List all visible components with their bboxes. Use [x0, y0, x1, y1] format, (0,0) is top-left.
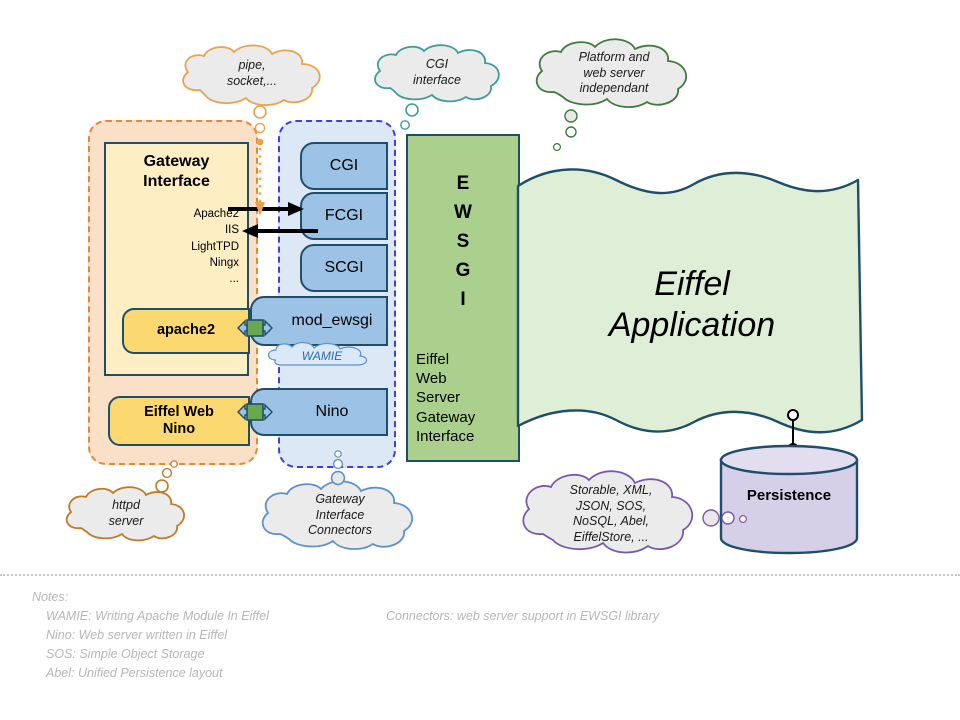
connector-plug-icon-nino	[236, 396, 274, 428]
scgi-box[interactable]: SCGI	[300, 244, 388, 292]
anchor-dot-icon	[326, 448, 350, 490]
note-item-sos: SOS: Simple Object Storage	[46, 645, 928, 664]
cloud-line-4: EiffelStore, ...	[516, 530, 706, 546]
cgi-box[interactable]: CGI	[300, 142, 388, 190]
eiffel-web-nino-label: Eiffel Web Nino	[144, 404, 214, 439]
ewsgi-letter-g: G	[408, 257, 518, 286]
ewsgi-letter-i: I	[408, 286, 518, 315]
dotted-arrow-icon	[246, 100, 274, 222]
gateway-title-line2: Interface	[106, 172, 247, 192]
eiffel-application-label: Eiffel Application	[512, 264, 872, 347]
diagram-canvas: Gateway Interface Apache2 IIS LightTPD N…	[0, 0, 960, 720]
cloud-gateway-interface-connectors: Gateway Interface Connectors	[256, 480, 424, 552]
cloud-line-1: Gateway	[256, 492, 424, 508]
application-line1: Eiffel	[512, 264, 872, 305]
plug-arrows-icon	[236, 396, 274, 428]
cloud-line-2: socket,...	[176, 74, 328, 90]
cloud-line-2: Interface	[256, 508, 424, 524]
persistence-anchor-dots	[702, 508, 754, 528]
anchor-dot-icon	[396, 100, 422, 136]
ewsgi-letter-s: S	[408, 228, 518, 257]
ewsgi-word-server: Server	[416, 388, 475, 407]
cloud-persistence-technologies: Storable, XML, JSON, SOS, NoSQL, Abel, E…	[516, 470, 706, 556]
eiffel-application-flag[interactable]: Eiffel Application	[512, 168, 872, 448]
cloud-line-2: web server	[530, 66, 698, 82]
pipe-socket-connector-arrow	[246, 100, 274, 222]
apache2-box[interactable]: apache2	[122, 308, 250, 354]
ewsgi-word-eiffel: Eiffel	[416, 350, 475, 369]
gateway-title-line1: Gateway	[106, 152, 247, 172]
ewsgi-acronym: E W S G I	[408, 170, 518, 314]
notes-divider	[0, 574, 960, 578]
scgi-label: SCGI	[324, 259, 363, 277]
cloud-pipe-socket: pipe, socket,...	[176, 44, 328, 106]
notes-heading: Notes:	[32, 588, 928, 607]
cloud-platform-independant-text: Platform and web server independant	[530, 50, 698, 97]
cloud-line-1: httpd	[62, 498, 190, 514]
server-item-ningx: Ningx	[191, 255, 239, 271]
gateway-interface-title: Gateway Interface	[106, 152, 247, 191]
cgi-interface-connector-dots	[396, 100, 422, 136]
cloud-line-2: server	[62, 514, 190, 530]
note-item-nino: Nino: Web server written in Eiffel	[46, 626, 928, 645]
apache2-label: apache2	[157, 322, 215, 339]
anchor-dot-icon	[550, 140, 564, 154]
cloud-gateway-connectors-text: Gateway Interface Connectors	[256, 492, 424, 539]
persistence-cylinder[interactable]: Persistence	[718, 443, 860, 555]
ewsgi-panel[interactable]: E W S G I Eiffel Web Server Gateway Inte…	[406, 134, 520, 462]
plug-arrows-icon	[236, 312, 274, 344]
cloud-httpd-server-text: httpd server	[62, 498, 190, 529]
eiffel-web-nino-line1: Eiffel Web	[144, 404, 214, 420]
request-response-arrows	[228, 198, 338, 248]
cloud-platform-independant: Platform and web server independant	[530, 38, 698, 110]
note-item-connectors: Connectors: web server support in EWSGI …	[386, 607, 659, 626]
ewsgi-expansion: Eiffel Web Server Gateway Interface	[416, 350, 475, 446]
cloud-pipe-socket-text: pipe, socket,...	[176, 58, 328, 89]
cloud-cgi-interface-text: CGI interface	[370, 57, 504, 88]
mod-ewsgi-label: mod_ewsgi	[266, 312, 373, 330]
cloud-line-1: CGI	[370, 57, 504, 73]
cloud-line-3: independant	[530, 81, 698, 97]
note-item-abel: Abel: Unified Persistence layout	[46, 664, 928, 683]
cloud-line-1: Storable, XML,	[516, 483, 706, 499]
cloud-line-3: Connectors	[256, 523, 424, 539]
nino-label: Nino	[290, 403, 349, 421]
cloud-line-2: interface	[370, 73, 504, 89]
ewsgi-letter-e: E	[408, 170, 518, 199]
ewsgi-word-gateway: Gateway	[416, 408, 475, 427]
connector-plug-icon-mod-ewsgi	[236, 312, 274, 344]
ewsgi-letter-w: W	[408, 199, 518, 228]
ewsgi-word-web: Web	[416, 369, 475, 388]
wamie-cloud: WAMIE	[262, 340, 382, 370]
ewsgi-anchor-dots	[560, 108, 586, 138]
persistence-label: Persistence	[718, 487, 860, 504]
cloud-line-1: pipe,	[176, 58, 328, 74]
cloud-line-2: JSON, SOS,	[516, 499, 706, 515]
wamie-label: WAMIE	[262, 349, 382, 363]
cgi-label: CGI	[330, 157, 358, 175]
notes-section: Notes: WAMIE: Writing Apache Module In E…	[28, 588, 928, 678]
server-item-ellipsis: ...	[191, 271, 239, 287]
httpd-server-connector-dots	[150, 458, 186, 496]
arrow-pair-icon	[228, 198, 338, 248]
eiffel-web-nino-box[interactable]: Eiffel Web Nino	[108, 396, 250, 446]
cloud-cgi-interface: CGI interface	[370, 44, 504, 104]
anchor-dot-icon	[702, 508, 754, 528]
cloud-line-3: NoSQL, Abel,	[516, 514, 706, 530]
application-line2: Application	[512, 305, 872, 346]
gateway-connectors-anchor-dots	[326, 448, 350, 490]
cloud-persistence-tech-text: Storable, XML, JSON, SOS, NoSQL, Abel, E…	[516, 483, 706, 545]
eiffel-web-nino-line2: Nino	[163, 421, 195, 437]
anchor-dot-icon	[150, 458, 186, 496]
anchor-dot-icon	[560, 108, 586, 138]
ewsgi-word-interface: Interface	[416, 427, 475, 446]
ewsgi-anchor-dot-small	[550, 140, 564, 154]
notes-body: WAMIE: Writing Apache Module In Eiffel N…	[46, 607, 928, 683]
cloud-line-1: Platform and	[530, 50, 698, 66]
